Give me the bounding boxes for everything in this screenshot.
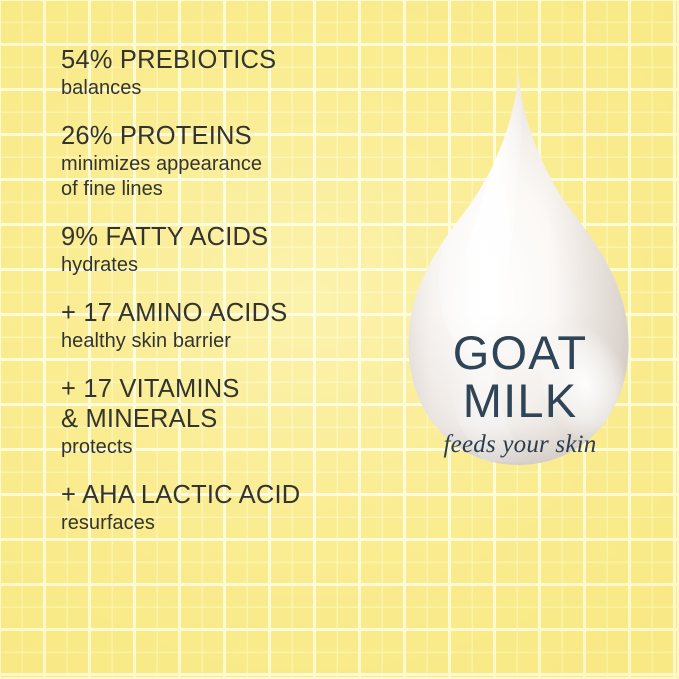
benefit-subtext: healthy skin barrier bbox=[61, 329, 381, 354]
benefit-item-fatty-acids: 9% FATTY ACIDS hydrates bbox=[61, 222, 381, 278]
benefit-heading: + 17 VITAMINS & MINERALS bbox=[61, 374, 381, 434]
benefit-item-prebiotics: 54% PREBIOTICS balances bbox=[61, 45, 381, 101]
benefit-heading: + 17 AMINO ACIDS bbox=[61, 298, 381, 328]
benefit-item-aha-lactic-acid: + AHA LACTIC ACID resurfaces bbox=[61, 480, 381, 536]
benefits-list: 54% PREBIOTICS balances 26% PROTEINS min… bbox=[61, 45, 381, 536]
benefit-subtext: hydrates bbox=[61, 253, 381, 278]
benefit-subtext: protects bbox=[61, 435, 381, 460]
benefit-subtext: resurfaces bbox=[61, 511, 381, 536]
benefit-item-amino-acids: + 17 AMINO ACIDS healthy skin barrier bbox=[61, 298, 381, 354]
benefit-item-vitamins-minerals: + 17 VITAMINS & MINERALS protects bbox=[61, 374, 381, 460]
milk-droplet-icon bbox=[389, 62, 651, 540]
goat-milk-benefits-infographic: 54% PREBIOTICS balances 26% PROTEINS min… bbox=[0, 0, 679, 679]
benefit-subtext: balances bbox=[61, 76, 381, 101]
benefit-heading: 26% PROTEINS bbox=[61, 121, 381, 151]
benefit-subtext: minimizes appearance of fine lines bbox=[61, 152, 381, 202]
benefit-heading: 54% PREBIOTICS bbox=[61, 45, 381, 75]
milk-droplet: GOAT MILK feeds your skin bbox=[389, 62, 651, 540]
benefit-item-proteins: 26% PROTEINS minimizes appearance of fin… bbox=[61, 121, 381, 202]
benefit-heading: 9% FATTY ACIDS bbox=[61, 222, 381, 252]
benefit-heading: + AHA LACTIC ACID bbox=[61, 480, 381, 510]
